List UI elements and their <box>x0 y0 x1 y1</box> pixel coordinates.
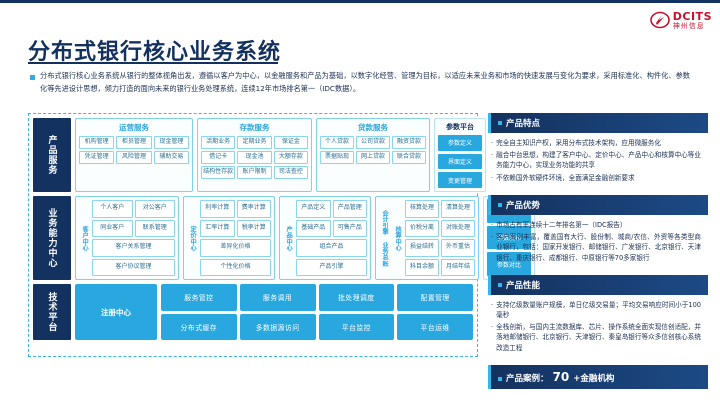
product-case-banner: 产品案例： 70 +金融机构 <box>488 365 708 389</box>
group-loan-service: 贷款服务 个人贷款 公司贷款 融资贷款 票据贴现 网上贷款 联合贷款 <box>316 118 430 192</box>
service-cell[interactable]: 融资贷款 <box>392 136 426 149</box>
center-cell[interactable]: 科目余额 <box>405 259 439 277</box>
center-cell[interactable]: 费率计算 <box>237 200 272 218</box>
band-capability-center: 业务能力中心 客户中心 个人客户 对公客户 同业客户 联系管理 客户关系管理 客… <box>33 196 473 280</box>
group-deposit-service: 存款服务 活期业务 定期业务 保证金 借记卡 现金池 大额存款 结构性存款 账户… <box>197 118 312 192</box>
service-cell[interactable]: 机构管理 <box>79 136 114 149</box>
tech-cell[interactable]: 多数据源访问 <box>240 314 316 341</box>
group-title: 运营服务 <box>79 121 189 136</box>
service-cell[interactable]: 现金池 <box>237 151 271 164</box>
tech-cell[interactable]: 分布式缓存 <box>161 314 237 341</box>
case-number: 70 <box>553 370 570 384</box>
list-item: ·完全自主知识产权，采用分布式技术架构，应用微服务化 <box>491 138 701 148</box>
center-cell[interactable]: 同业客户 <box>92 220 133 238</box>
group-items: 活期业务 定期业务 保证金 借记卡 现金池 大额存款 结构性存款 账户限制 司法… <box>201 136 308 179</box>
section-body: ·支持亿级数量账户规模，单日亿级交易量；平均交易响应时间小于100毫秒 ·全栈创… <box>488 295 708 361</box>
service-cell[interactable]: 票据贴现 <box>320 151 354 164</box>
param-platform-title: 参数平台 <box>438 121 482 135</box>
case-label: 产品案例： <box>506 372 549 384</box>
group-operation-service: 运营服务 机构管理 柜员管理 现金管理 凭证管理 风险管理 辅助交易 <box>75 118 193 192</box>
section-header: 产品优势 <box>488 195 708 215</box>
param-platform-items: 参数定义 界面定义 变更管理 <box>438 135 482 188</box>
center-cell[interactable]: 月结年结 <box>441 259 475 277</box>
service-cell[interactable]: 个人贷款 <box>320 136 354 149</box>
list-item-text: 市场占有率连续十二年排名第一（IDC报告） <box>496 220 626 230</box>
center-cell[interactable]: 客户协议管理 <box>92 259 175 277</box>
tech-cell[interactable]: 平台运维 <box>397 314 473 341</box>
slide-root: DCITS 神州信息 分布式银行核心业务系统 分布式银行核心业务系统从银行的整体… <box>0 0 720 405</box>
tech-items: 服务管控 服务调用 批处理调度 配置管理 分布式缓存 多数据源访问 平台监控 平… <box>161 284 473 340</box>
tech-cell[interactable]: 批处理调度 <box>319 284 395 311</box>
section-product-performance: 产品性能 ·支持亿级数量账户规模，单日亿级交易量；平均交易响应时间小于100毫秒… <box>488 275 708 361</box>
bullet-square-icon <box>498 283 502 287</box>
band-label-tech-platform: 技术平台 <box>33 284 71 340</box>
center-label: 客户中心 <box>79 200 89 276</box>
list-item: ·全栈创新，与国内主流数据库、芯片、操作系统全面实现信创适配，并落地邮储银行、北… <box>491 322 701 353</box>
center-cell[interactable]: 个性化价格 <box>200 259 271 277</box>
section-product-advantages: 产品优势 ·市场占有率连续十二年排名第一（IDC报告） ·客户案例丰富，覆盖国有… <box>488 195 708 271</box>
service-cell[interactable]: 司法查控 <box>274 166 308 179</box>
center-cell[interactable]: 个人客户 <box>92 200 133 218</box>
band-label-product-service: 产品服务 <box>33 118 71 192</box>
brand-logo: DCITS 神州信息 <box>650 10 712 30</box>
intro-text: 分布式银行核心业务系统从银行的整体视角出发，遵循以客户为中心，以金融服务和产品为… <box>40 70 690 95</box>
list-item: ·不依赖国外软硬件环境，全面满足金融创新要求 <box>491 173 701 183</box>
band-tech-platform: 技术平台 注册中心 服务管控 服务调用 批处理调度 配置管理 分布式缓存 多数据… <box>33 284 473 340</box>
band-product-service: 产品服务 运营服务 机构管理 柜员管理 现金管理 凭证管理 风险管理 辅助交易 … <box>33 118 473 192</box>
list-item-text: 全栈创新，与国内主流数据库、芯片、操作系统全面实现信创适配，并落地邮储银行、北京… <box>496 322 701 353</box>
list-item-text: 支持亿级数量账户规模，单日亿级交易量；平均交易响应时间小于100毫秒 <box>496 300 701 320</box>
service-cell[interactable]: 保证金 <box>274 136 308 149</box>
service-cell[interactable]: 借记卡 <box>201 151 235 164</box>
center-cell[interactable]: 差异化价格 <box>200 239 271 257</box>
tech-cell[interactable]: 服务调用 <box>240 284 316 311</box>
center-cell[interactable]: 外币重估 <box>441 239 475 257</box>
list-item-text: 不依赖国外软硬件环境，全面满足金融创新要求 <box>496 173 634 183</box>
center-customer: 客户中心 个人客户 对公客户 同业客户 联系管理 客户关系管理 客户协议管理 <box>75 196 179 280</box>
service-cell[interactable]: 大额存款 <box>274 151 308 164</box>
section-title: 产品优势 <box>506 199 540 211</box>
param-platform-panel: 参数平台 参数定义 界面定义 变更管理 <box>434 118 486 192</box>
center-label: 定价中心 <box>187 200 197 276</box>
band-label-capability-center: 业务能力中心 <box>33 196 71 280</box>
center-cell[interactable]: 组合产品 <box>296 239 367 257</box>
center-cell[interactable]: 对账处理 <box>441 220 475 238</box>
logo-text-en: DCITS <box>673 11 712 22</box>
center-cell[interactable]: 清算处理 <box>441 200 475 218</box>
group-items: 个人贷款 公司贷款 融资贷款 票据贴现 网上贷款 联合贷款 <box>320 136 426 164</box>
service-cell[interactable]: 辅助交易 <box>154 151 189 164</box>
section-title: 产品特点 <box>506 117 540 129</box>
section-header: 产品特点 <box>488 113 708 133</box>
tech-cell[interactable]: 配置管理 <box>397 284 473 311</box>
center-pricing: 定价中心 利率计算 费率计算 汇率计算 税率计算 差异化价格 个性化价格 <box>183 196 275 280</box>
center-cell[interactable]: 产品定义 <box>296 200 331 218</box>
list-item-text: 融合中台思想，构建了客户中心、定价中心、产品中心和核算中心等业务能力中心，实现业… <box>496 150 701 170</box>
center-cell[interactable]: 对公客户 <box>135 200 176 218</box>
list-item: ·支持亿级数量账户规模，单日亿级交易量；平均交易响应时间小于100毫秒 <box>491 300 701 320</box>
section-body: ·完全自主知识产权，采用分布式技术架构，应用微服务化 ·融合中台思想，构建了客户… <box>488 133 708 191</box>
service-cell[interactable]: 定期业务 <box>237 136 271 149</box>
center-product: 产品中心 产品定义 产品管理 基础产品 可售产品 组合产品 产品引擎 <box>279 196 371 280</box>
center-cell[interactable]: 核算处理 <box>405 200 439 218</box>
bullet-dot-icon: · <box>491 300 493 320</box>
param-item[interactable]: 界面定义 <box>438 154 482 170</box>
bullet-square-icon <box>498 121 502 125</box>
bullet-dot-icon: · <box>491 138 493 148</box>
center-cell[interactable]: 税率计算 <box>237 220 272 238</box>
section-product-features: 产品特点 ·完全自主知识产权，采用分布式技术架构，应用微服务化 ·融合中台思想，… <box>488 113 708 191</box>
bullet-dot-icon: · <box>491 232 493 263</box>
bullet-dot-icon: · <box>491 322 493 353</box>
tech-cell[interactable]: 平台监控 <box>319 314 395 341</box>
list-item-text: 客户案例丰富，覆盖国有大行、股份制、城商/农信、外资等各类型商业银行，包括：国家… <box>496 232 701 263</box>
bullet-dot-icon: · <box>491 220 493 230</box>
center-cell[interactable]: 可售产品 <box>333 220 368 238</box>
center-cell[interactable]: 基础产品 <box>296 220 331 238</box>
service-cell[interactable]: 公司贷款 <box>356 136 390 149</box>
list-item-text: 完全自主知识产权，采用分布式技术架构，应用微服务化 <box>496 138 661 148</box>
group-title: 存款服务 <box>201 121 308 136</box>
service-cell[interactable]: 柜员管理 <box>116 136 151 149</box>
title-underline <box>28 62 278 64</box>
list-item: ·融合中台思想，构建了客户中心、定价中心、产品中心和核算中心等业务能力中心，实现… <box>491 150 701 170</box>
service-cell[interactable]: 活期业务 <box>201 136 235 149</box>
param-item[interactable]: 参数定义 <box>438 135 482 151</box>
center-cell[interactable]: 产品引擎 <box>296 259 367 277</box>
center-cell[interactable]: 产品管理 <box>333 200 368 218</box>
service-cell[interactable]: 风险管理 <box>116 151 151 164</box>
param-item[interactable]: 变更管理 <box>438 172 482 188</box>
top-accent-bar <box>0 0 720 3</box>
center-label: 产品中心 <box>283 200 293 276</box>
right-info-panel: 产品特点 ·完全自主知识产权，采用分布式技术架构，应用微服务化 ·融合中台思想，… <box>488 113 708 389</box>
bullet-square-icon <box>498 203 502 207</box>
bullet-square-icon <box>498 377 502 381</box>
list-item: ·市场占有率连续十二年排名第一（IDC报告） <box>491 220 701 230</box>
center-label: 核算中心 <box>392 200 402 276</box>
case-suffix: +金融机构 <box>573 372 614 384</box>
section-header: 产品性能 <box>488 275 708 295</box>
center-cell[interactable]: 客户关系管理 <box>92 239 175 257</box>
center-cell[interactable]: 利率计算 <box>200 200 235 218</box>
service-cell[interactable]: 账户限制 <box>237 166 271 179</box>
center-cell[interactable]: 联系管理 <box>135 220 176 238</box>
center-cell[interactable]: 汇率计算 <box>200 220 235 238</box>
bullet-dot-icon: · <box>491 150 493 170</box>
section-title: 产品性能 <box>506 279 540 291</box>
logo-text-cn: 神州信息 <box>673 23 712 30</box>
bullet-dot-icon: · <box>491 173 493 183</box>
service-cell[interactable]: 联合贷款 <box>392 151 426 164</box>
center-sub-label: 会计引擎 业务总账 <box>379 200 389 276</box>
tech-cell[interactable]: 服务管控 <box>161 284 237 311</box>
registry-center-box[interactable]: 注册中心 <box>75 284 157 340</box>
service-cell[interactable]: 结构性存款 <box>201 166 235 179</box>
group-title: 贷款服务 <box>320 121 426 136</box>
section-body: ·市场占有率连续十二年排名第一（IDC报告） ·客户案例丰富，覆盖国有大行、股份… <box>488 215 708 271</box>
dcits-logo-icon <box>650 10 670 30</box>
service-cell[interactable]: 网上贷款 <box>356 151 390 164</box>
service-cell[interactable]: 凭证管理 <box>79 151 114 164</box>
architecture-diagram: 产品服务 运营服务 机构管理 柜员管理 现金管理 凭证管理 风险管理 辅助交易 … <box>28 113 478 357</box>
group-items: 机构管理 柜员管理 现金管理 凭证管理 风险管理 辅助交易 <box>79 136 189 164</box>
center-accounting: 会计引擎 业务总账 核算中心 核算处理 清算处理 价税分离 对账处理 损益结转 … <box>375 196 479 280</box>
center-cell[interactable]: 价税分离 <box>405 220 439 238</box>
list-item: ·客户案例丰富，覆盖国有大行、股份制、城商/农信、外资等各类型商业银行，包括：国… <box>491 232 701 263</box>
service-cell[interactable]: 现金管理 <box>154 136 189 149</box>
bullet-square-icon <box>30 75 35 80</box>
center-cell[interactable]: 损益结转 <box>405 239 439 257</box>
intro-paragraph: 分布式银行核心业务系统从银行的整体视角出发，遵循以客户为中心，以金融服务和产品为… <box>30 70 690 95</box>
